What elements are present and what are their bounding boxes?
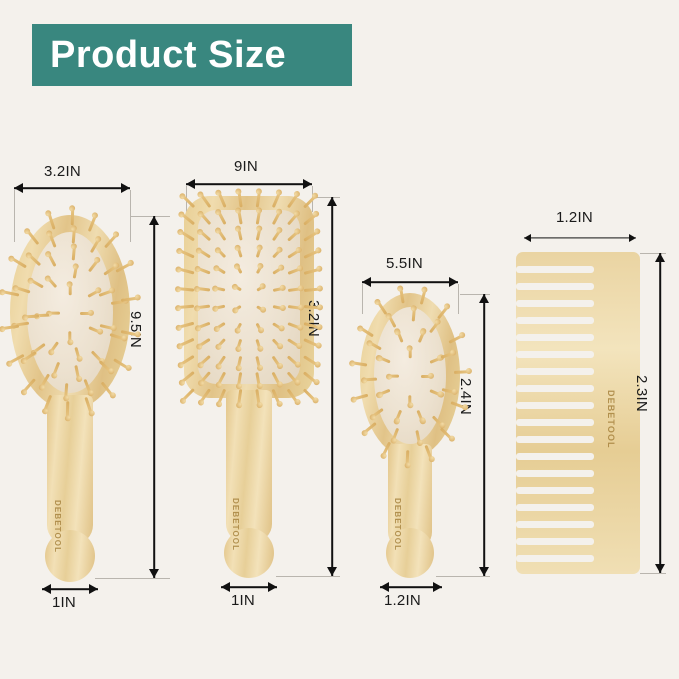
guide-oval-bottom (95, 578, 170, 579)
guide-mini-bottom (436, 576, 490, 577)
page-title: Product Size (50, 36, 286, 74)
paddle-brush-cushion-pad (198, 210, 300, 384)
dim-label-mini-handle-width: 1.2IN (384, 592, 421, 609)
guide-oval-left (14, 190, 15, 242)
brand-mark-paddle: DEBETOOL (231, 498, 240, 551)
dim-arrow-paddle-height (326, 197, 338, 576)
guide-paddle-bottom (276, 576, 340, 577)
dim-arrow-comb-width (524, 233, 636, 243)
dim-label-comb-width: 1.2IN (556, 209, 593, 226)
guide-paddle-right (312, 186, 313, 212)
page-title-banner: Product Size (32, 24, 352, 86)
mini-brush-cushion-pad (374, 307, 446, 444)
brand-mark-mini: DEBETOOL (393, 498, 402, 551)
guide-mini-left (362, 284, 363, 314)
oval-brush-cushion-pad (27, 232, 113, 393)
dim-label-paddle-handle-width: 1IN (231, 592, 255, 609)
dim-arrow-mini-width (362, 276, 458, 288)
dim-label-oval-width: 3.2IN (44, 163, 81, 180)
brand-mark-oval: DEBETOOL (53, 500, 62, 553)
dim-label-comb-height: 2.3IN (633, 375, 650, 412)
dim-label-paddle-height: 3.2IN (305, 300, 322, 337)
dim-arrow-oval-width (14, 182, 130, 194)
dim-label-oval-height: 9.5IN (127, 311, 144, 348)
dim-arrow-comb-height (654, 253, 666, 573)
dim-arrow-paddle-width (186, 178, 312, 190)
comb-teeth-group (516, 252, 606, 574)
dim-arrow-oval-height (148, 216, 160, 578)
dim-label-mini-height: 2.4IN (457, 378, 474, 415)
guide-comb-bottom (640, 573, 666, 574)
dim-label-oval-handle-width: 1IN (52, 594, 76, 611)
brand-mark-comb: DEBETOOL (606, 390, 616, 449)
dim-arrow-mini-height (478, 294, 490, 576)
product-size-infographic: Product Size 3.2IN DEBETOOL 9.5IN 1IN 9I… (0, 0, 679, 679)
dim-label-mini-width: 5.5IN (386, 255, 423, 272)
dim-label-paddle-width: 9IN (234, 158, 258, 175)
guide-mini-right (458, 284, 459, 314)
